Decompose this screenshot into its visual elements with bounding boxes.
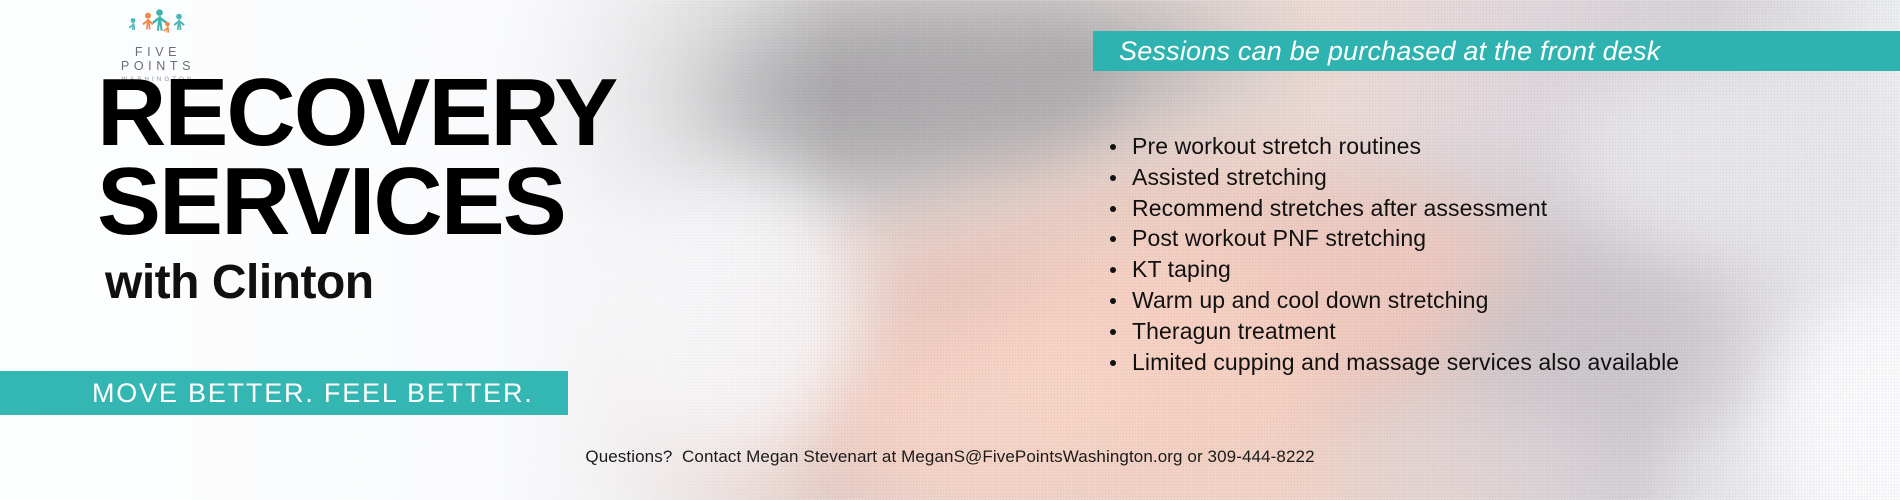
list-item: Recommend stretches after assessment	[1132, 193, 1679, 224]
headline-subtitle: with Clinton	[105, 259, 616, 307]
sessions-banner: Sessions can be purchased at the front d…	[1093, 31, 1900, 71]
recovery-services-banner: FIVE POINTS WASHINGTON RECOVERY SERVICES…	[0, 0, 1900, 500]
list-item: Theragun treatment	[1132, 316, 1679, 347]
tagline-bar: MOVE BETTER. FEEL BETTER.	[0, 371, 568, 415]
list-item: Assisted stretching	[1132, 162, 1679, 193]
headline-line-2: SERVICES	[97, 161, 616, 244]
sessions-banner-text: Sessions can be purchased at the front d…	[1119, 36, 1660, 67]
list-item: KT taping	[1132, 254, 1679, 285]
contact-text: Questions? Contact Megan Stevenart at Me…	[585, 447, 1314, 467]
headline-line-1: RECOVERY	[97, 72, 616, 155]
list-item: Limited cupping and massage services als…	[1132, 347, 1679, 378]
services-list: Pre workout stretch routines Assisted st…	[1108, 131, 1679, 377]
list-item: Pre workout stretch routines	[1132, 131, 1679, 162]
tagline-text: MOVE BETTER. FEEL BETTER.	[92, 378, 534, 409]
five-points-people-logo-icon	[124, 8, 192, 42]
headline-block: RECOVERY SERVICES with Clinton	[97, 72, 616, 307]
list-item: Post workout PNF stretching	[1132, 223, 1679, 254]
list-item: Warm up and cool down stretching	[1132, 285, 1679, 316]
contact-footer: Questions? Contact Megan Stevenart at Me…	[0, 447, 1900, 467]
